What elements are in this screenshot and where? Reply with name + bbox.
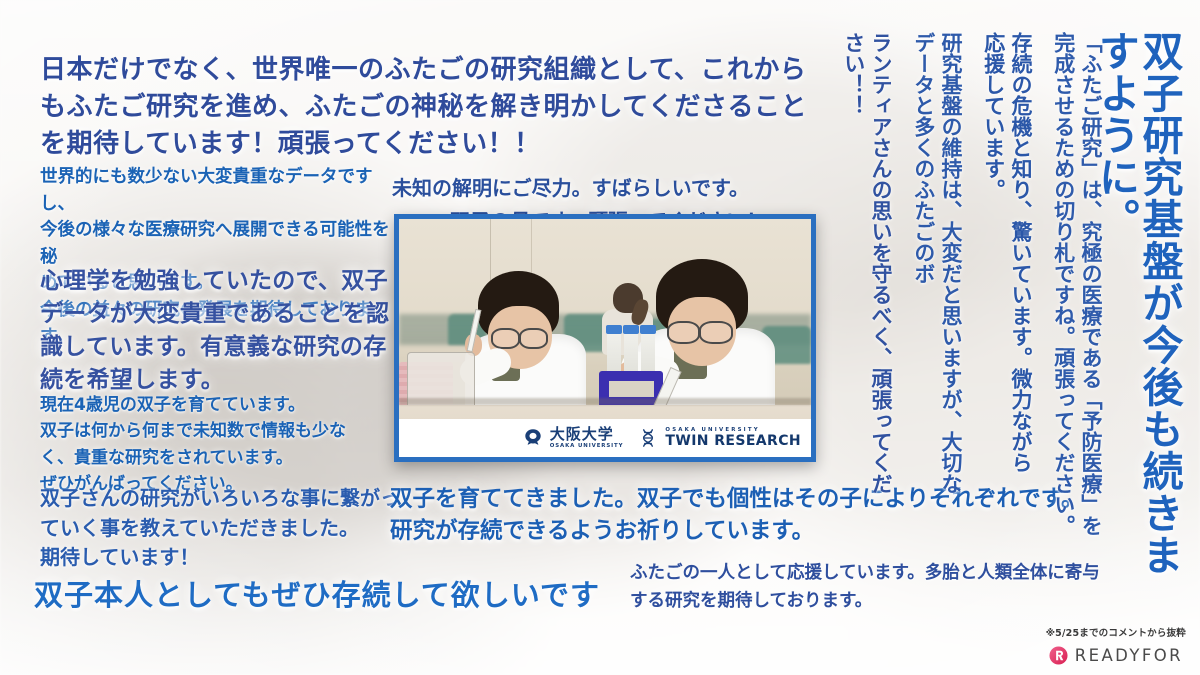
readyfor-wordmark: READYFOR <box>1075 646 1183 665</box>
photo-card: 大阪大学 OSAKA UNIVERSITY OSAKA UNIVERSITY <box>394 214 816 462</box>
vertical-quote-preventive: 「ふたご研究」は、究極の医療である「予防医療」を完成させるための切り札ですね。頑… <box>1049 32 1104 552</box>
twin-research-photo: 大阪大学 OSAKA UNIVERSITY OSAKA UNIVERSITY <box>399 219 811 457</box>
osaka-university-label-en: OSAKA UNIVERSITY <box>550 444 624 449</box>
twin-research-logo: OSAKA UNIVERSITY TWIN RESEARCH <box>637 427 801 449</box>
dna-helix-icon <box>637 427 659 449</box>
vertical-quote-maintain: 研究基盤の維持は、大変だと思いますが、大切なデータと多くのふたごのボ <box>909 32 964 502</box>
quote-one-of-twins: ふたごの一人として応援しています。多胎と人類全体に寄与する研究を期待しております… <box>630 560 1100 615</box>
footer-note: ※5/25までのコメントから抜粋 <box>1046 625 1186 639</box>
osaka-university-logo: 大阪大学 OSAKA UNIVERSITY <box>522 427 624 449</box>
quote-myself-twin: 双子本人としてもぜひ存続して欲しいです <box>34 578 634 613</box>
footer: ※5/25までのコメントから抜粋 READYFOR <box>1046 625 1186 665</box>
vertical-quote-volunteer: ランティアさんの思いを守るべく、頑張ってください！！ <box>839 32 894 512</box>
vertical-headline: 双子研究基盤が今後も続きますように。 <box>1093 30 1180 615</box>
photo-logo-bar: 大阪大学 OSAKA UNIVERSITY OSAKA UNIVERSITY <box>399 419 811 457</box>
twin-research-label-main: TWIN RESEARCH <box>665 434 801 448</box>
vertical-quote-crisis: 存続の危機と知り、驚いています。微力ながら応援しています。 <box>979 32 1034 482</box>
quote-various-things: 双子さんの研究がいろいろな事に繋がっていく事を教えていただきました。 期待してい… <box>40 484 412 573</box>
quote-raised-twins: 双子を育ててきました。双子でも個性はその子によりそれぞれです。研究が存続できるよ… <box>390 484 1095 548</box>
poster-canvas: 日本だけでなく、世界唯一のふたごの研究組織として、これからもふたご研究を進め、ふ… <box>0 0 1200 675</box>
readyfor-logo: READYFOR <box>1046 646 1186 665</box>
quote-age4-twins: 現在4歳児の双子を育てています。 双子は何から何まで未知数で情報も少な く、貴重… <box>40 392 400 497</box>
quote-unknown-line1: 未知の解明にご尽力。すばらしいです。 <box>392 176 749 200</box>
osaka-university-crest-icon <box>522 427 544 449</box>
osaka-university-label-jp: 大阪大学 <box>550 427 624 442</box>
quote-psychology: 心理学を勉強していたので、双子データが大変貴重であることを認識しています。有意義… <box>40 265 395 397</box>
readyfor-mark-icon <box>1049 646 1068 665</box>
